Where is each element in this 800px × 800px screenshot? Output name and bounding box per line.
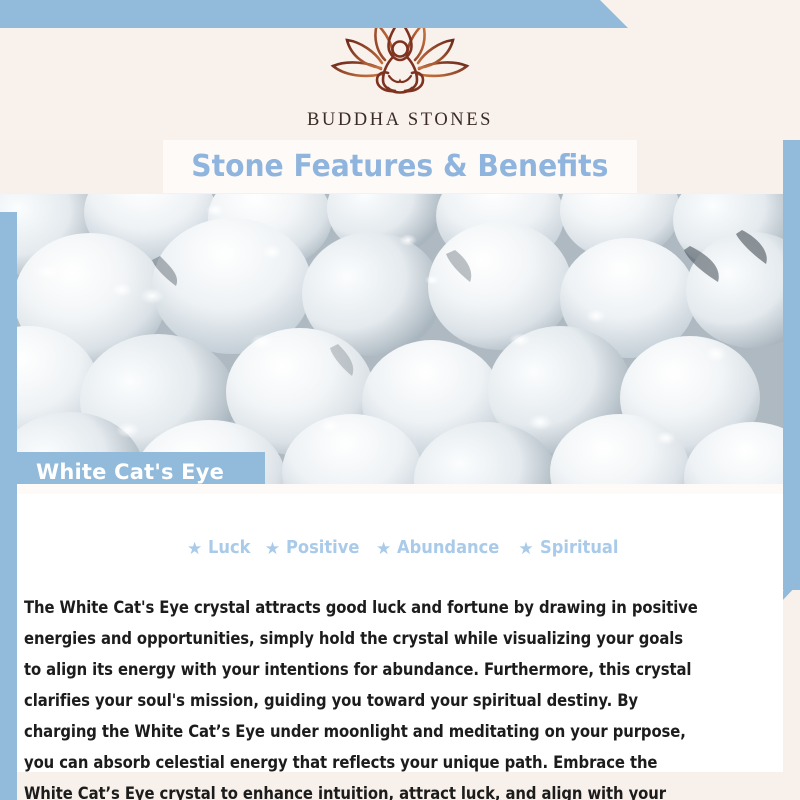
star-icon: ★: [265, 540, 280, 557]
benefit-item-luck: ★ Luck: [176, 538, 254, 558]
star-icon: ★: [376, 540, 391, 557]
frame-strip-top-right: [783, 140, 800, 196]
frame-strip-right: [783, 194, 800, 590]
page-title: Stone Features & Benefits: [191, 149, 608, 184]
stone-description: The White Cat's Eye crystal attracts goo…: [24, 592, 705, 800]
brand-name: BUDDHA STONES: [0, 110, 800, 131]
star-icon: ★: [518, 540, 533, 557]
benefit-label: Luck: [208, 538, 250, 558]
product-info-card: BUDDHA STONES Stone Features & Benefits: [0, 0, 800, 800]
description-card-inner: ★ Luck ★ Positive ★ Abundance ★ Spiritua…: [17, 494, 783, 772]
lotus-meditation-icon: [325, 16, 475, 100]
benefit-item-abundance: ★ Abundance: [365, 538, 507, 558]
stone-name: White Cat's Eye: [36, 460, 224, 484]
benefit-label: Spiritual: [540, 538, 618, 558]
benefit-label: Positive: [286, 538, 359, 558]
description-card: ★ Luck ★ Positive ★ Abundance ★ Spiritua…: [17, 484, 783, 772]
logo-container: [0, 16, 800, 105]
frame-strip-left: [0, 212, 17, 800]
benefit-label: Abundance: [397, 538, 499, 558]
white-cats-eye-stones-photo: [0, 194, 800, 484]
benefit-item-spiritual: ★ Spiritual: [507, 538, 624, 558]
benefits-row: ★ Luck ★ Positive ★ Abundance ★ Spiritua…: [17, 538, 783, 558]
benefit-item-positive: ★ Positive: [254, 538, 365, 558]
section-title-banner: Stone Features & Benefits: [163, 140, 637, 193]
star-icon: ★: [187, 540, 202, 557]
